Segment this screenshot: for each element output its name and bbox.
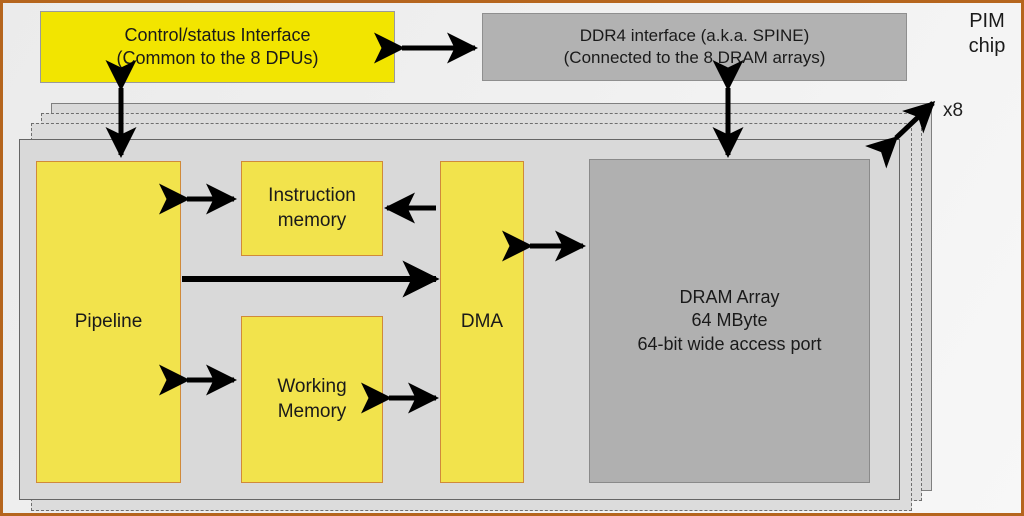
pim-chip-diagram: Control/status Interface (Common to the …: [0, 0, 1024, 516]
dram-array-line3: 64-bit wide access port: [637, 333, 821, 356]
control-status-interface-line2: (Common to the 8 DPUs): [116, 47, 318, 70]
control-status-interface-block: Control/status Interface (Common to the …: [40, 11, 395, 83]
pipeline-label: Pipeline: [75, 310, 143, 334]
working-memory-line2: Memory: [278, 400, 347, 424]
stack-multiplicity-label: x8: [943, 99, 993, 123]
working-memory-block: Working Memory: [241, 316, 383, 483]
ddr4-interface-line2: (Connected to the 8 DRAM arrays): [564, 47, 826, 69]
ddr4-interface-line1: DDR4 interface (a.k.a. SPINE): [580, 25, 810, 47]
dram-array-line1: DRAM Array: [679, 286, 779, 309]
pim-chip-label: PIM chip: [955, 9, 1019, 59]
instruction-memory-line2: memory: [278, 209, 347, 233]
dram-array-line2: 64 MByte: [691, 309, 767, 332]
working-memory-line1: Working: [277, 375, 346, 399]
instruction-memory-line1: Instruction: [268, 184, 356, 208]
dma-label: DMA: [461, 310, 503, 334]
control-status-interface-line1: Control/status Interface: [124, 24, 310, 47]
pipeline-block: Pipeline: [36, 161, 181, 483]
instruction-memory-block: Instruction memory: [241, 161, 383, 256]
ddr4-interface-block: DDR4 interface (a.k.a. SPINE) (Connected…: [482, 13, 907, 81]
dma-block: DMA: [440, 161, 524, 483]
dram-array-block: DRAM Array 64 MByte 64-bit wide access p…: [589, 159, 870, 483]
pim-chip-label-line2: chip: [955, 34, 1019, 59]
pim-chip-label-line1: PIM: [955, 9, 1019, 34]
